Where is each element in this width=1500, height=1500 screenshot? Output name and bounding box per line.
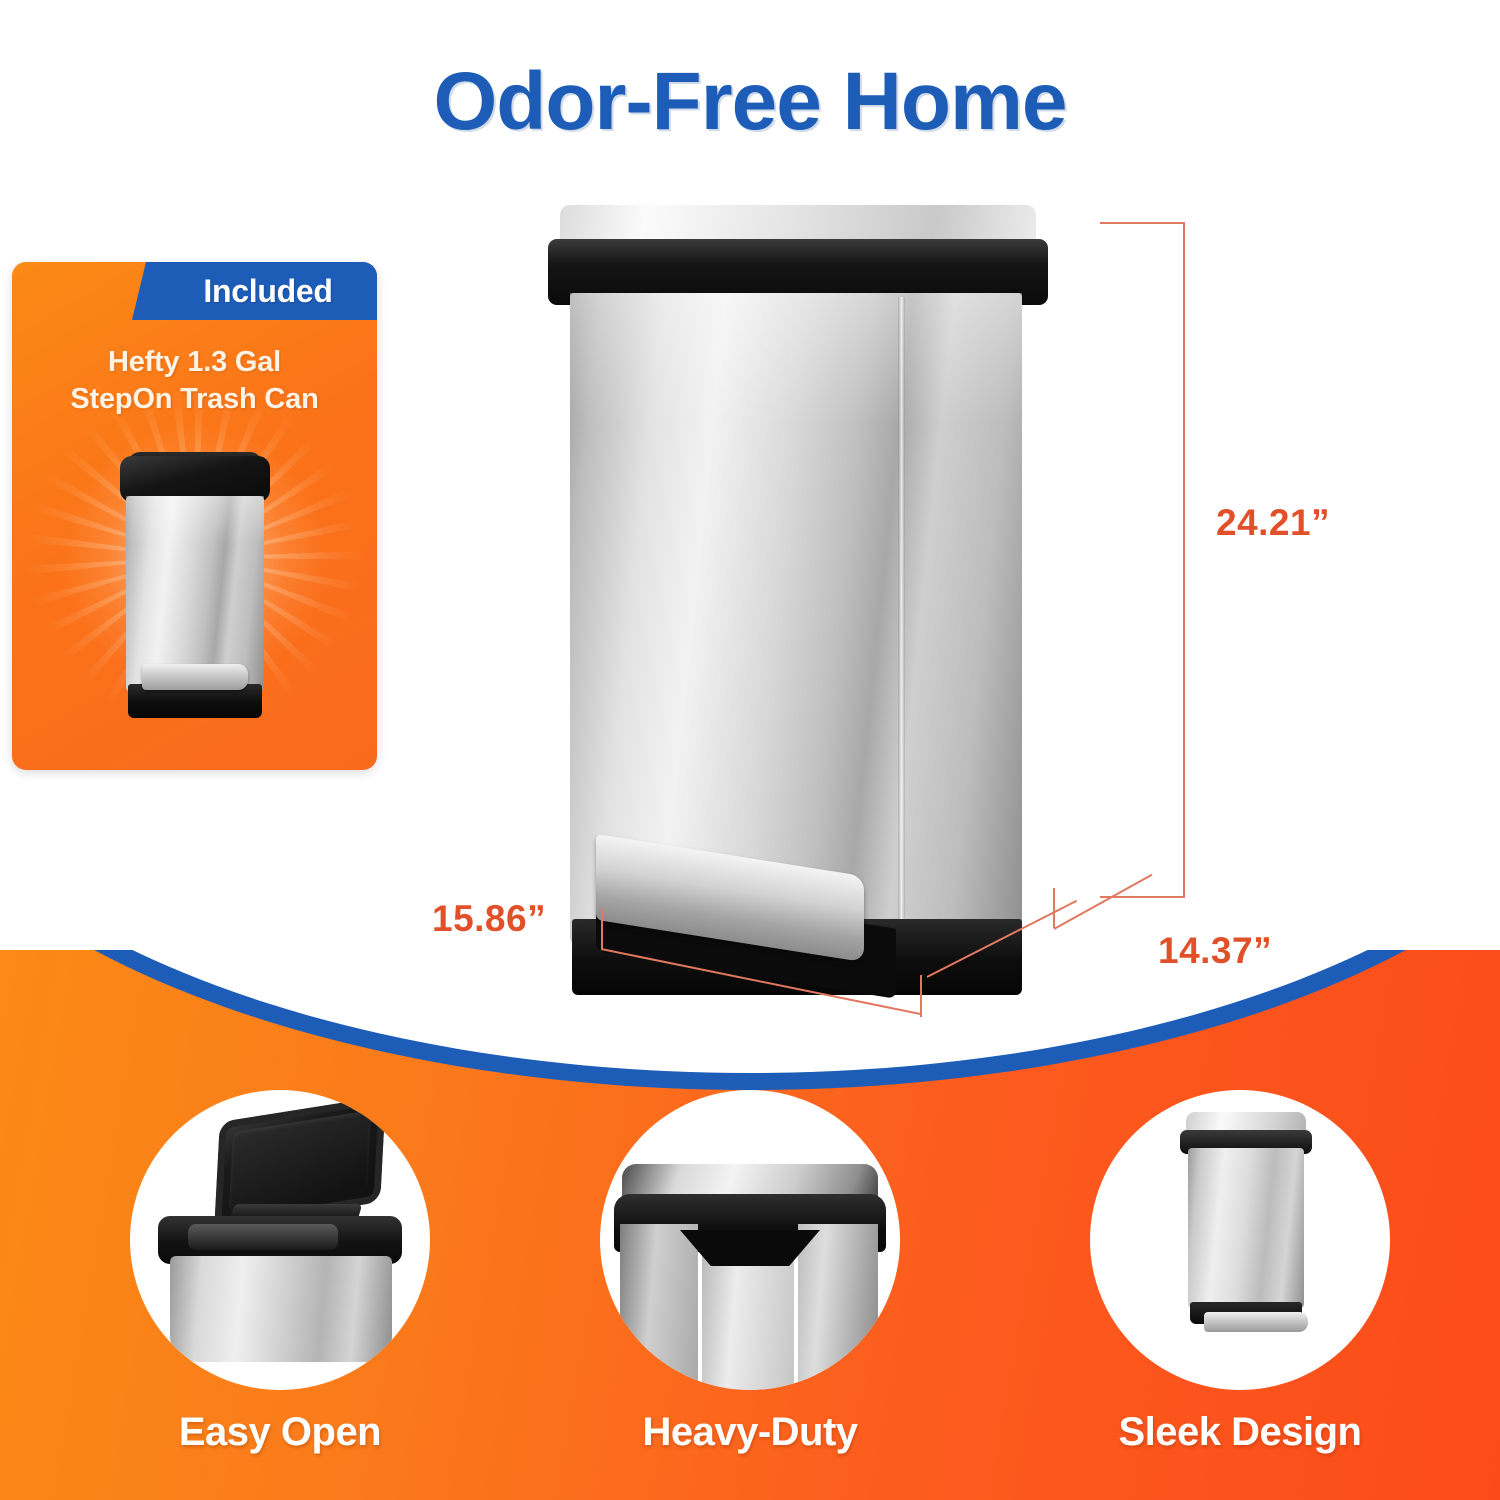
feature-easy-open-label: Easy Open: [130, 1410, 430, 1455]
feature-easy-open-image: [130, 1090, 430, 1390]
product-marketing-image: Odor-Free Home Included Hefty 1.3 Gal St…: [0, 0, 1500, 1500]
feature-heavy-duty-image: [600, 1090, 900, 1390]
feature-sleek-design-image: [1090, 1090, 1390, 1390]
can-panel-right: [798, 1224, 878, 1390]
dim-depth-label: 14.37”: [1158, 930, 1272, 972]
dim-height-top-tick: [1100, 222, 1185, 224]
dim-depth-back-tick: [1053, 888, 1055, 928]
included-trash-can-icon: [120, 452, 270, 732]
open-lid-trash-can-icon: [158, 1182, 402, 1362]
trash-can-top-closeup-icon: [614, 1164, 886, 1390]
included-badge-label: Included: [189, 273, 332, 310]
dim-width-left-tick: [601, 908, 603, 950]
page-title: Odor-Free Home: [0, 55, 1500, 149]
feature-easy-open: Easy Open: [130, 1090, 430, 1455]
feature-sleek-design: Sleek Design: [1090, 1090, 1390, 1455]
caption-line-2: StepOn Trash Can: [12, 381, 377, 418]
open-lid-inner: [229, 1110, 371, 1212]
feature-heavy-duty: Heavy-Duty: [600, 1090, 900, 1455]
full-trash-can-icon: [1176, 1112, 1316, 1344]
dim-height-label: 24.21”: [1216, 502, 1330, 544]
dim-width-label: 15.86”: [432, 898, 546, 940]
can-panel-left: [620, 1224, 698, 1390]
hero-corner-edge: [898, 297, 905, 937]
can-body: [126, 496, 264, 692]
can-body: [170, 1256, 392, 1362]
included-badge: Included: [132, 262, 377, 320]
included-card-caption: Hefty 1.3 Gal StepOn Trash Can: [12, 344, 377, 418]
can-pedal: [142, 664, 248, 690]
can-panel-center: [702, 1246, 794, 1390]
dim-depth-leader: [1054, 874, 1153, 930]
can-body: [1188, 1148, 1304, 1308]
dim-height-line: [1183, 222, 1185, 898]
can-pedal: [1204, 1312, 1308, 1332]
feature-heavy-duty-label: Heavy-Duty: [600, 1410, 900, 1455]
caption-line-1: Hefty 1.3 Gal: [12, 344, 377, 381]
included-product-card: Included Hefty 1.3 Gal StepOn Trash Can: [12, 262, 377, 770]
feature-sleek-design-label: Sleek Design: [1090, 1410, 1390, 1455]
can-opening: [188, 1224, 338, 1250]
dim-width-right-tick: [920, 975, 922, 1017]
